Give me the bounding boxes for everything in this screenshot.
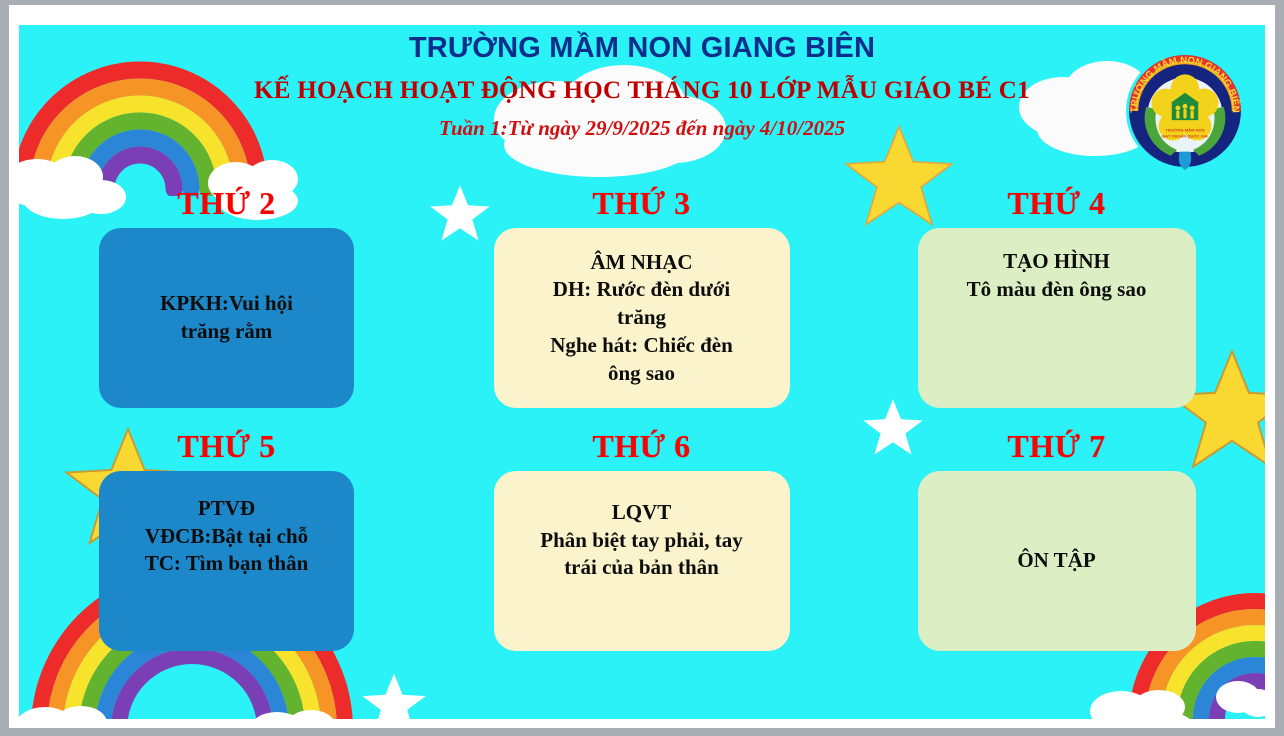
cloud-bottom-left-right-icon — [247, 705, 357, 719]
header: TRƯỜNG MẦM NON GIANG BIÊN KẾ HOẠCH HOẠT … — [19, 25, 1265, 141]
logo-inner-line2: ĐẠT CHUẨN QUỐC GIA — [1162, 133, 1208, 138]
school-name: TRƯỜNG MẦM NON GIANG BIÊN — [19, 32, 1265, 65]
day-cell-thu-3: THỨ 3 ÂM NHẠC DH: Rước đèn dưới trăng Ng… — [434, 185, 849, 408]
activity-line: TC: Tìm bạn thân — [145, 550, 309, 578]
activity-text: KPKH:Vui hội trăng rằm — [160, 290, 293, 345]
slide-root: TRƯỜNG MẦM NON GIANG BIÊN KẾ HOẠCH HOẠT … — [0, 0, 1284, 736]
day-cell-thu-6: THỨ 6 LQVT Phân biệt tay phải, tay trái … — [434, 428, 849, 651]
weekly-schedule-grid: THỨ 2 KPKH:Vui hội trăng rằm THỨ 3 ÂM NH… — [19, 185, 1265, 651]
activity-text: ÂM NHẠC DH: Rước đèn dưới trăng Nghe hát… — [550, 249, 733, 388]
day-label: THỨ 3 — [592, 185, 690, 222]
activity-line: KPKH:Vui hội — [160, 290, 293, 318]
activity-text: PTVĐ VĐCB:Bật tại chỗ TC: Tìm bạn thân — [145, 495, 309, 578]
cloud-bottom-left-icon — [19, 701, 133, 719]
activity-line: Phân biệt tay phải, tay — [540, 527, 742, 555]
day-label: THỨ 2 — [177, 185, 275, 222]
activity-line: DH: Rước đèn dưới — [550, 276, 733, 304]
activity-card[interactable]: ÂM NHẠC DH: Rước đèn dưới trăng Nghe hát… — [494, 228, 790, 408]
day-label: THỨ 7 — [1007, 428, 1105, 465]
activity-line: trăng rằm — [160, 318, 293, 346]
activity-line: TẠO HÌNH — [967, 248, 1147, 276]
day-label: THỨ 6 — [592, 428, 690, 465]
star-white-bottom-left-icon — [361, 671, 427, 719]
activity-text: TẠO HÌNH Tô màu đèn ông sao — [967, 248, 1147, 303]
activity-line: trăng — [550, 304, 733, 332]
day-cell-thu-7: THỨ 7 ÔN TẬP — [849, 428, 1264, 651]
activity-line: ông sao — [550, 360, 733, 388]
logo-inner-line1: TRƯỜNG MẦM NON — [1165, 127, 1204, 132]
activity-card[interactable]: LQVT Phân biệt tay phải, tay trái của bả… — [494, 471, 790, 651]
slide-canvas: TRƯỜNG MẦM NON GIANG BIÊN KẾ HOẠCH HOẠT … — [19, 25, 1265, 719]
activity-line: LQVT — [540, 499, 742, 527]
schedule-row-2: THỨ 5 PTVĐ VĐCB:Bật tại chỗ TC: Tìm bạn … — [19, 428, 1265, 651]
cloud-bottom-right-icon — [1087, 683, 1207, 719]
activity-card[interactable]: KPKH:Vui hội trăng rằm — [99, 228, 354, 408]
day-cell-thu-4: THỨ 4 TẠO HÌNH Tô màu đèn ông sao — [849, 185, 1264, 408]
day-cell-thu-5: THỨ 5 PTVĐ VĐCB:Bật tại chỗ TC: Tìm bạn … — [19, 428, 434, 651]
school-logo: TRƯỜNG MẦM NON GIANG BIÊN — [1124, 50, 1246, 172]
activity-line: VĐCB:Bật tại chỗ — [145, 523, 309, 551]
activity-text: ÔN TẬP — [1017, 547, 1095, 575]
activity-card[interactable]: TẠO HÌNH Tô màu đèn ông sao — [918, 228, 1196, 408]
activity-line: Tô màu đèn ông sao — [967, 276, 1147, 304]
activity-line: ÂM NHẠC — [550, 249, 733, 277]
schedule-row-1: THỨ 2 KPKH:Vui hội trăng rằm THỨ 3 ÂM NH… — [19, 185, 1265, 408]
activity-card[interactable]: PTVĐ VĐCB:Bật tại chỗ TC: Tìm bạn thân — [99, 471, 354, 651]
day-cell-thu-2: THỨ 2 KPKH:Vui hội trăng rằm — [19, 185, 434, 408]
activity-text: LQVT Phân biệt tay phải, tay trái của bả… — [540, 499, 742, 582]
activity-line: ÔN TẬP — [1017, 547, 1095, 575]
page-title: KẾ HOẠCH HOẠT ĐỘNG HỌC THÁNG 10 LỚP MẪU … — [19, 77, 1265, 105]
day-label: THỨ 4 — [1007, 185, 1105, 222]
activity-line: trái của bản thân — [540, 554, 742, 582]
cloud-bottom-right-corner-icon — [1214, 673, 1265, 719]
activity-line: Nghe hát: Chiếc đèn — [550, 332, 733, 360]
activity-card[interactable]: ÔN TẬP — [918, 471, 1196, 651]
day-label: THỨ 5 — [177, 428, 275, 465]
activity-line: PTVĐ — [145, 495, 309, 523]
week-range: Tuần 1:Từ ngày 29/9/2025 đến ngày 4/10/2… — [19, 116, 1265, 141]
